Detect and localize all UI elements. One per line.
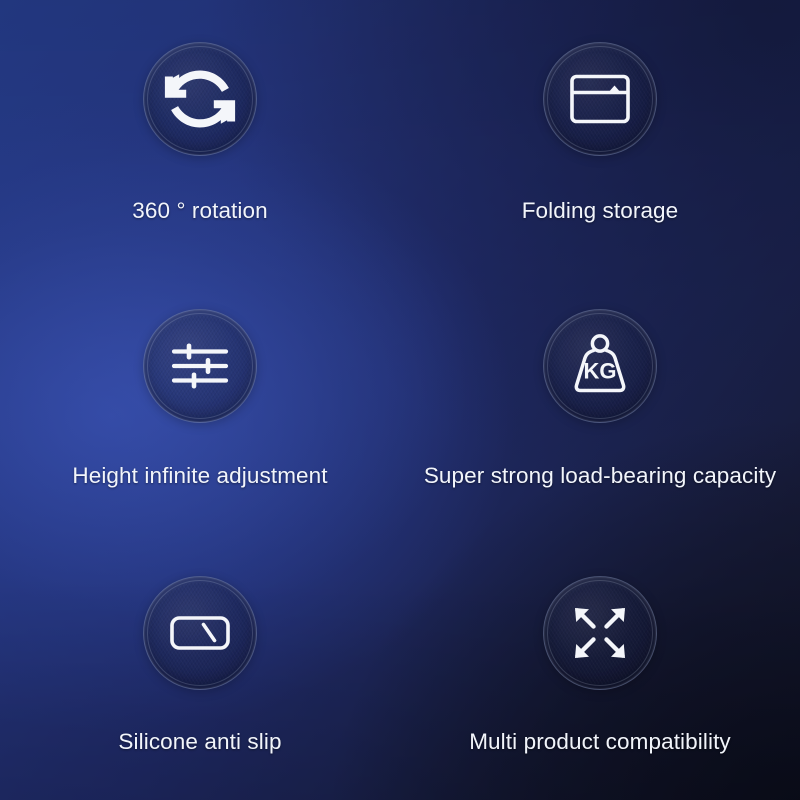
feature-card-360-rotation[interactable]: 360 ° rotation <box>0 0 400 267</box>
feature-badge <box>543 42 657 156</box>
badge-wrapper: KG <box>543 309 657 423</box>
feature-label: 360 ° rotation <box>132 198 268 224</box>
kg-weight-icon-text: KG <box>584 358 617 383</box>
feature-grid: 360 ° rotation <box>0 0 800 800</box>
badge-wrapper <box>143 309 257 423</box>
silicone-pad-icon <box>144 577 256 689</box>
sliders-icon <box>144 310 256 422</box>
rotation-arrows-icon <box>144 43 256 155</box>
feature-badge <box>143 309 257 423</box>
folding-panel-icon <box>544 43 656 155</box>
feature-badge: KG <box>543 309 657 423</box>
feature-card-silicone-anti-slip[interactable]: Silicone anti slip <box>0 533 400 800</box>
kg-weight-icon: KG <box>544 310 656 422</box>
badge-wrapper <box>143 576 257 690</box>
feature-label: Folding storage <box>522 198 679 224</box>
four-way-expand-arrows-icon <box>544 577 656 689</box>
feature-grid-panel: 360 ° rotation <box>0 0 800 800</box>
feature-badge <box>543 576 657 690</box>
badge-wrapper <box>543 42 657 156</box>
feature-badge <box>143 576 257 690</box>
feature-label: Silicone anti slip <box>118 729 281 755</box>
feature-card-folding-storage[interactable]: Folding storage <box>400 0 800 267</box>
feature-badge <box>143 42 257 156</box>
feature-label: Height infinite adjustment <box>72 463 327 489</box>
feature-label: Multi product compatibility <box>469 729 731 755</box>
feature-label: Super strong load-bearing capacity <box>424 463 776 489</box>
feature-card-multi-product-compatibility[interactable]: Multi product compatibility <box>400 533 800 800</box>
feature-card-load-bearing[interactable]: KG Super strong load-bearing capacity <box>400 267 800 534</box>
badge-wrapper <box>143 42 257 156</box>
badge-wrapper <box>543 576 657 690</box>
feature-card-height-adjustment[interactable]: Height infinite adjustment <box>0 267 400 534</box>
